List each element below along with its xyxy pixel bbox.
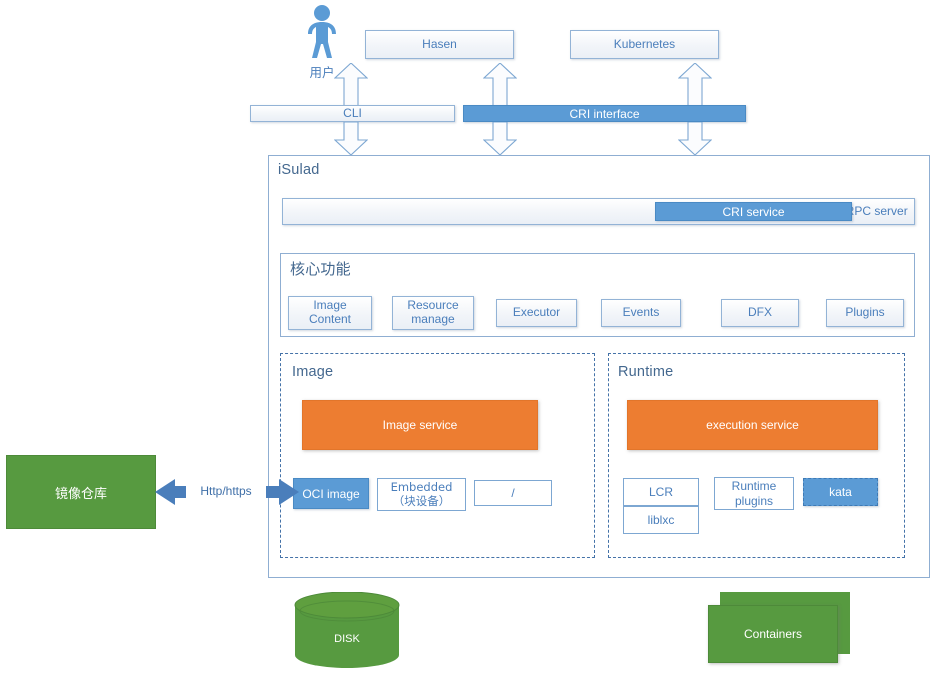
runtime-backend-label: Runtime plugins: [732, 479, 777, 509]
arrow-down-kubernetes: [678, 122, 712, 155]
core-module-dfx[interactable]: DFX: [721, 299, 799, 327]
runtime-backend-label: liblxc: [648, 513, 675, 527]
arrow-up-cli: [334, 63, 368, 107]
core-module-label: DFX: [748, 306, 772, 320]
client-label: Kubernetes: [614, 38, 675, 52]
core-module-label: Resource manage: [407, 299, 458, 327]
image-service-bar[interactable]: Image service: [302, 400, 538, 450]
interface-label: CLI: [343, 107, 362, 121]
image-backend-label: Embedded （块设备）: [391, 481, 453, 509]
core-module-label: Image Content: [309, 299, 351, 327]
containers-label: Containers: [744, 627, 802, 641]
image-backend-label: /: [511, 486, 514, 500]
arrow-down-hasen: [483, 122, 517, 155]
runtime-backend-lcr[interactable]: LCR: [623, 478, 699, 506]
image-registry-box[interactable]: 镜像仓库: [6, 455, 156, 529]
cri-service-block[interactable]: CRI service: [655, 202, 852, 221]
http-link-label: Http/https: [186, 484, 266, 498]
interface-bar-cli[interactable]: CLI: [250, 105, 455, 122]
runtime-backend-liblxc[interactable]: liblxc: [623, 506, 699, 534]
core-module-label: Plugins: [845, 306, 884, 320]
image-service-label: Image service: [383, 418, 458, 432]
core-module-label: Events: [623, 306, 660, 320]
execution-service-label: execution service: [706, 418, 799, 432]
runtime-backend-plugins[interactable]: Runtime plugins: [714, 477, 794, 510]
client-box-kubernetes[interactable]: Kubernetes: [570, 30, 719, 59]
core-module-events[interactable]: Events: [601, 299, 681, 327]
execution-service-bar[interactable]: execution service: [627, 400, 878, 450]
interface-bar-cri[interactable]: CRI interface: [463, 105, 746, 122]
arrow-up-hasen: [483, 63, 517, 107]
runtime-backend-label: kata: [829, 485, 852, 499]
isulad-title: iSulad: [278, 162, 320, 178]
image-section-title: Image: [292, 364, 333, 380]
interface-label: CRI interface: [569, 107, 639, 121]
image-backend-other[interactable]: /: [474, 480, 552, 506]
core-module-label: Executor: [513, 306, 560, 320]
image-registry-label: 镜像仓库: [55, 483, 107, 502]
containers-box-front[interactable]: Containers: [708, 605, 838, 663]
image-backend-label: OCI image: [302, 487, 359, 501]
image-section: [280, 353, 595, 558]
runtime-backend-label: LCR: [649, 485, 673, 499]
core-module-executor[interactable]: Executor: [496, 299, 577, 327]
person-icon: [300, 4, 344, 60]
arrow-up-kubernetes: [678, 63, 712, 107]
client-box-hasen[interactable]: Hasen: [365, 30, 514, 59]
core-module-resource-manage[interactable]: Resource manage: [392, 296, 474, 330]
architecture-diagram: 用户 Hasen Kubernetes CLI CRI interface iS…: [0, 0, 939, 673]
core-module-plugins[interactable]: Plugins: [826, 299, 904, 327]
image-backend-oci[interactable]: OCI image: [293, 478, 369, 509]
runtime-section-title: Runtime: [618, 364, 673, 380]
client-label: Hasen: [422, 38, 457, 52]
core-function-title: 核心功能: [290, 258, 351, 279]
runtime-backend-kata[interactable]: kata: [803, 478, 878, 506]
core-module-image-content[interactable]: Image Content: [288, 296, 372, 330]
disk-label: DISK: [293, 633, 401, 645]
image-backend-embedded[interactable]: Embedded （块设备）: [377, 478, 466, 511]
core-function-box: [280, 253, 915, 337]
cri-service-label: CRI service: [722, 205, 784, 219]
disk-icon: [293, 592, 401, 668]
arrow-down-cli: [334, 122, 368, 155]
